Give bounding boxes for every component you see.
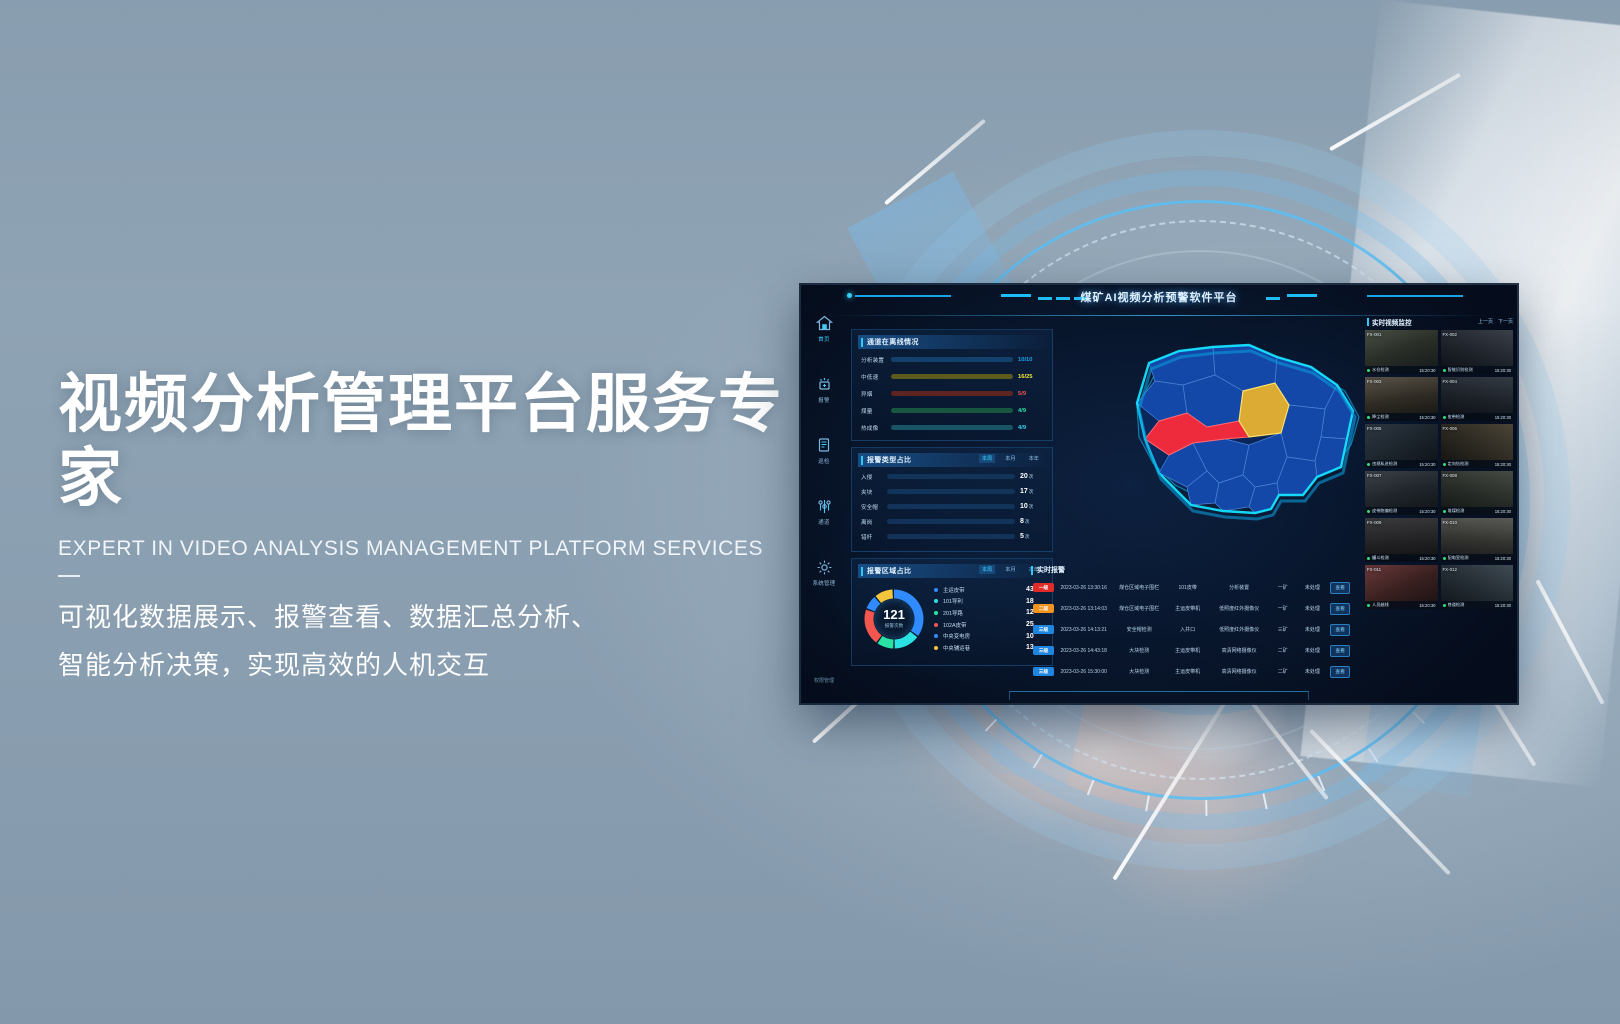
- online-dot: [1367, 416, 1370, 419]
- alarm-type-row: 安全帽10次: [861, 499, 1044, 514]
- donut-total: 121: [883, 608, 905, 621]
- video-time: 15:20:30: [1495, 556, 1511, 561]
- alarm-type: 大块检测: [1113, 647, 1164, 654]
- tab-本月[interactable]: 本月: [1002, 565, 1018, 574]
- video-monitor-panel: 实时视频监控 上一页 下一页 FX-001水仓检测15:20:30FX-002智…: [1365, 315, 1513, 699]
- alarm-mine: 一矿: [1268, 584, 1298, 591]
- video-statusbar: 配电室检测15:20:30: [1441, 554, 1514, 562]
- channel-value: 4/9: [1018, 425, 1044, 431]
- alarm-type-label: 夹块: [861, 488, 887, 496]
- alarm-state: 未处理: [1298, 647, 1328, 654]
- channel-progress-track: [891, 391, 1013, 396]
- inspection-icon: [816, 437, 833, 454]
- alarm-type-tabs[interactable]: 本周本月本年: [979, 454, 1042, 463]
- hero-description-line-1: 可视化数据展示、报警查看、数据汇总分析、: [58, 593, 818, 641]
- view-button[interactable]: 查看: [1330, 645, 1350, 657]
- online-dot: [1367, 604, 1370, 607]
- table-row[interactable]: 三级2023-03-26 15:30:00大块检测主运皮带机高清网络摄像仪二矿未…: [1023, 661, 1361, 682]
- sidebar-item-gear[interactable]: 系统管理: [801, 551, 847, 595]
- alarm-location: 入井口: [1165, 626, 1211, 633]
- dashboard-title: 煤矿AI视频分析预警软件平台: [801, 289, 1517, 305]
- alarm-type-value: 5次: [1020, 533, 1044, 540]
- video-tile[interactable]: FX-011人员越线15:20:30: [1365, 565, 1438, 609]
- video-tile[interactable]: FX-012巷道检测15:20:30: [1441, 565, 1514, 609]
- alarm-device: 高清网络摄像仪: [1210, 647, 1267, 654]
- channel-progress-track: [891, 408, 1013, 413]
- video-statusbar: 水仓检测15:20:30: [1365, 366, 1438, 374]
- channel-value: 5/9: [1018, 391, 1044, 397]
- alarm-icon: [816, 376, 833, 393]
- alarm-action-cell: 查看: [1327, 645, 1353, 657]
- video-time: 15:20:30: [1419, 462, 1435, 467]
- legend-label: 201导路: [943, 609, 1026, 617]
- video-id: FX-011: [1367, 567, 1381, 572]
- online-dot: [1367, 557, 1370, 560]
- tab-本周[interactable]: 本周: [979, 454, 995, 463]
- alarm-location: 101皮带: [1165, 584, 1211, 591]
- video-id: FX-001: [1367, 332, 1381, 337]
- alarm-time: 2023-03-26 15:30:00: [1054, 669, 1113, 675]
- accent-bar: [1367, 318, 1369, 326]
- alarm-mine: 二矿: [1268, 647, 1298, 654]
- channel-progress-track: [891, 374, 1013, 379]
- sidebar-nav[interactable]: 首页报警巡检通道系统管理: [801, 307, 847, 703]
- next-page-button[interactable]: 下一页: [1498, 318, 1513, 325]
- alarm-type-track: [887, 489, 1015, 494]
- video-tile[interactable]: FX-002智能识别检测15:20:30: [1441, 330, 1514, 374]
- video-tile[interactable]: FX-007皮带跑偏检测15:20:30: [1365, 471, 1438, 515]
- legend-dot: [934, 646, 938, 650]
- realtime-alarm-table: 实时报警 一级2023-03-26 13:30:16煤仓区域电子围栏101皮带分…: [1023, 561, 1361, 682]
- alarm-state: 未处理: [1298, 584, 1328, 591]
- status-badge: 二级: [1033, 604, 1054, 613]
- online-dot: [1443, 604, 1446, 607]
- video-tile[interactable]: FX-003降尘检测15:20:30: [1365, 377, 1438, 421]
- alarm-action-cell: 查看: [1327, 582, 1353, 594]
- alarm-state: 未处理: [1298, 605, 1328, 612]
- alarm-type-panel-title: 报警类型占比: [867, 455, 911, 465]
- alarm-type-value: 8次: [1020, 518, 1044, 525]
- alarm-row-list: 一级2023-03-26 13:30:16煤仓区域电子围栏101皮带分析装置一矿…: [1023, 577, 1361, 682]
- video-time: 15:20:30: [1495, 462, 1511, 467]
- alarm-area-donut: 121 报警次数: [862, 587, 926, 651]
- donut-center: 121 报警次数: [874, 599, 914, 639]
- status-badge: 三级: [1033, 646, 1054, 655]
- alarm-time: 2023-03-26 13:30:16: [1054, 585, 1113, 591]
- video-name: 人员越线: [1372, 602, 1419, 608]
- video-statusbar: 降尘检测15:20:30: [1365, 413, 1438, 421]
- footer-notch: [1009, 691, 1309, 700]
- video-tile[interactable]: FX-001水仓检测15:20:30: [1365, 330, 1438, 374]
- alarm-type-row: 离岗8次: [861, 514, 1044, 529]
- legend-dot: [934, 599, 938, 603]
- gear-icon: [816, 559, 833, 576]
- sidebar-footer-label: 权限管理: [801, 677, 847, 684]
- status-badge: 一级: [1033, 583, 1054, 592]
- channel-status-row: 异烟5/9: [861, 385, 1044, 402]
- alarm-type-value: 17次: [1020, 488, 1044, 495]
- legend-dot: [934, 611, 938, 615]
- video-time: 15:20:30: [1419, 509, 1435, 514]
- alarm-device: 高清网络摄像仪: [1210, 668, 1267, 675]
- video-time: 15:20:30: [1419, 368, 1435, 373]
- video-tile[interactable]: FX-006定向钻检测15:20:30: [1441, 424, 1514, 468]
- table-row[interactable]: 一级2023-03-26 13:30:16煤仓区域电子围栏101皮带分析装置一矿…: [1023, 577, 1361, 598]
- alarm-action-cell: 查看: [1327, 603, 1353, 615]
- table-row[interactable]: 三级2023-03-26 14:13:21安全帽检测入井口低照度红外摄像仪三矿未…: [1023, 619, 1361, 640]
- video-id: FX-003: [1367, 379, 1381, 384]
- accent-slash: [1112, 683, 1237, 880]
- video-statusbar: 罐斗检测15:20:30: [1365, 554, 1438, 562]
- legend-label: 中央变电房: [943, 632, 1026, 640]
- online-dot: [1443, 557, 1446, 560]
- accent-bar: [861, 567, 863, 576]
- channel-value: 4/9: [1018, 408, 1044, 414]
- channel-status-row: 热成像4/9: [861, 419, 1044, 436]
- alarm-type-unit: 次: [1029, 489, 1034, 494]
- online-dot: [1367, 463, 1370, 466]
- video-statusbar: 巷道检测15:20:30: [1441, 601, 1514, 609]
- video-name: 配电室检测: [1448, 555, 1495, 561]
- video-id: FX-007: [1367, 473, 1381, 478]
- donut-segment: [880, 639, 893, 643]
- alarm-type-unit: 次: [1029, 504, 1034, 509]
- video-statusbar: 皮带检测15:20:30: [1441, 413, 1514, 421]
- tab-本年[interactable]: 本年: [1026, 454, 1042, 463]
- alarm-state: 未处理: [1298, 626, 1328, 633]
- alarm-type-panel: 报警类型占比 本周本月本年 入侵20次夹块17次安全帽10次离岗8次错杆5次: [851, 447, 1053, 552]
- view-button[interactable]: 查看: [1330, 666, 1350, 678]
- legend-label: 中央辅运巷: [943, 644, 1026, 652]
- video-panel-title: 实时视频监控: [1372, 317, 1412, 327]
- video-grid: FX-001水仓检测15:20:30FX-002智能识别检测15:20:30FX…: [1365, 330, 1513, 609]
- video-time: 15:20:30: [1495, 603, 1511, 608]
- video-name: 智能识别检测: [1448, 367, 1495, 373]
- hero-subtitle: EXPERT IN VIDEO ANALYSIS MANAGEMENT PLAT…: [58, 537, 818, 561]
- alarm-type-row: 夹块17次: [861, 484, 1044, 499]
- alarm-type: 煤仓区域电子围栏: [1113, 605, 1164, 612]
- alarm-type-unit: 次: [1025, 534, 1030, 539]
- video-name: 定向钻检测: [1448, 461, 1495, 467]
- accent-slash: [1329, 73, 1461, 151]
- video-statusbar: 智能识别检测15:20:30: [1441, 366, 1514, 374]
- online-dot: [1367, 369, 1370, 372]
- view-button[interactable]: 查看: [1330, 624, 1350, 636]
- panel-header: 报警类型占比 本周本月本年: [858, 453, 1046, 467]
- alarm-type-value: 20次: [1020, 473, 1044, 480]
- channel-status-row: 煤量4/9: [861, 402, 1044, 419]
- status-badge: 三级: [1033, 667, 1054, 676]
- video-statusbar: 定向钻检测15:20:30: [1441, 460, 1514, 468]
- accent-slash: [884, 119, 986, 206]
- video-tile[interactable]: FX-004皮带检测15:20:30: [1441, 377, 1514, 421]
- sidebar-item-inspection[interactable]: 巡检: [801, 429, 847, 473]
- home-icon: [816, 315, 833, 332]
- alarm-action-cell: 查看: [1327, 666, 1353, 678]
- alarm-location: 主运皮带机: [1165, 647, 1211, 654]
- video-time: 15:20:30: [1419, 415, 1435, 420]
- alarm-type-label: 安全帽: [861, 503, 887, 511]
- realtime-alarm-title: 实时报警: [1037, 565, 1065, 575]
- video-time: 15:20:30: [1419, 603, 1435, 608]
- dashboard-screen: 煤矿AI视频分析预警软件平台 首页报警巡检通道系统管理 权限管理 通道在离线情况…: [801, 285, 1517, 703]
- legend-label: 主运皮带: [943, 586, 1026, 594]
- sidebar-item-channel[interactable]: 通道: [801, 490, 847, 534]
- video-id: FX-004: [1443, 379, 1457, 384]
- alarm-device: 低照度红外摄像仪: [1210, 605, 1267, 612]
- legend-dot: [934, 623, 938, 627]
- alarm-state: 未处理: [1298, 668, 1328, 675]
- video-id: FX-009: [1367, 520, 1381, 525]
- alarm-device: 分析装置: [1210, 584, 1267, 591]
- header-chip: [1266, 297, 1280, 300]
- page-title: 视频分析管理平台服务专家: [58, 368, 818, 515]
- video-statusbar: 皮带跑偏检测15:20:30: [1365, 507, 1438, 515]
- video-id: FX-002: [1443, 332, 1457, 337]
- sidebar-item-alarm[interactable]: 报警: [801, 368, 847, 412]
- view-button[interactable]: 查看: [1330, 582, 1350, 594]
- sidebar-item-label: 报警: [818, 396, 829, 404]
- video-id: FX-005: [1367, 426, 1381, 431]
- channel-status-row: 中低速16/25: [861, 368, 1044, 385]
- channel-panel-title: 通道在离线情况: [867, 337, 919, 347]
- video-id: FX-008: [1443, 473, 1457, 478]
- alarm-time: 2023-03-26 14:13:21: [1054, 627, 1113, 633]
- alarm-type: 煤仓区域电子围栏: [1113, 584, 1164, 591]
- prev-page-button[interactable]: 上一页: [1478, 318, 1493, 325]
- divider: [58, 575, 80, 577]
- channel-icon: [816, 498, 833, 515]
- alarm-mine: 二矿: [1268, 668, 1298, 675]
- donut-caption: 报警次数: [885, 623, 903, 629]
- province-map[interactable]: [1063, 333, 1393, 558]
- alarm-action-cell: 查看: [1327, 624, 1353, 636]
- alarm-area-panel-title: 报警区域占比: [867, 566, 911, 576]
- tab-本周[interactable]: 本周: [979, 565, 995, 574]
- video-pager[interactable]: 上一页 下一页: [1478, 318, 1513, 325]
- realtime-alarm-header: 实时报警: [1031, 565, 1355, 575]
- video-name: 罐斗检测: [1372, 555, 1419, 561]
- alarm-time: 2023-03-26 13:14:03: [1054, 606, 1113, 612]
- video-time: 15:20:30: [1495, 415, 1511, 420]
- video-name: 巷道检测: [1448, 602, 1495, 608]
- alarm-type-row: 错杆5次: [861, 529, 1044, 544]
- sidebar-item-label: 系统管理: [813, 579, 836, 587]
- channel-value: 10/10: [1018, 357, 1044, 363]
- alarm-type-label: 入侵: [861, 473, 887, 481]
- video-statusbar: 违规私进检测15:20:30: [1365, 460, 1438, 468]
- status-badge: 三级: [1033, 625, 1054, 634]
- legend-dot: [934, 634, 938, 638]
- video-name: 降尘检测: [1372, 414, 1419, 420]
- video-panel-header: 实时视频监控 上一页 下一页: [1365, 315, 1513, 328]
- table-row[interactable]: 三级2023-03-26 14:43:18大块检测主运皮带机高清网络摄像仪二矿未…: [1023, 640, 1361, 661]
- channel-status-panel: 通道在离线情况 分析装置10/10中低速16/25异烟5/9煤量4/9热成像4/…: [851, 329, 1053, 441]
- video-name: 违规私进检测: [1372, 461, 1419, 467]
- accent-bar: [861, 338, 863, 347]
- video-id: FX-006: [1443, 426, 1457, 431]
- video-time: 15:20:30: [1495, 368, 1511, 373]
- panel-header: 报警区域占比 本周本月本年: [858, 564, 1046, 578]
- channel-label: 煤量: [861, 407, 891, 415]
- legend-label: 102A皮带: [943, 621, 1026, 629]
- alarm-type-unit: 次: [1029, 474, 1034, 479]
- channel-label: 中低速: [861, 373, 891, 381]
- header-chip: [1287, 294, 1317, 297]
- video-tile[interactable]: FX-005违规私进检测15:20:30: [1365, 424, 1438, 468]
- alarm-type-track: [887, 504, 1015, 509]
- video-id: FX-010: [1443, 520, 1457, 525]
- accent-bar: [1031, 566, 1033, 575]
- alarm-type-track: [887, 534, 1015, 539]
- donut-chart-container: 121 报警次数 主运皮带43101导利18201导路12102A皮带25中央变…: [852, 580, 1052, 654]
- alarm-mine: 三矿: [1268, 626, 1298, 633]
- sidebar-item-label: 首页: [818, 335, 829, 343]
- online-dot: [1443, 510, 1446, 513]
- alarm-type: 大块检测: [1113, 668, 1164, 675]
- video-tile[interactable]: FX-008堆煤检测15:20:30: [1441, 471, 1514, 515]
- table-row[interactable]: 二级2023-03-26 13:14:03煤仓区域电子围栏主运皮带机低照度红外摄…: [1023, 598, 1361, 619]
- alarm-mine: 一矿: [1268, 605, 1298, 612]
- video-name: 水仓检测: [1372, 367, 1419, 373]
- sidebar-item-label: 通道: [818, 518, 829, 526]
- alarm-type-rows: 入侵20次夹块17次安全帽10次离岗8次错杆5次: [852, 469, 1052, 544]
- video-name: 皮带检测: [1448, 414, 1495, 420]
- legend-dot: [934, 588, 938, 592]
- video-tile[interactable]: FX-010配电室检测15:20:30: [1441, 518, 1514, 562]
- alarm-type-label: 离岗: [861, 518, 887, 526]
- alarm-location: 主运皮带机: [1165, 605, 1211, 612]
- channel-progress-track: [891, 425, 1013, 430]
- online-dot: [1443, 416, 1446, 419]
- legend-label: 101导利: [943, 597, 1026, 605]
- online-dot: [1367, 510, 1370, 513]
- hero-description-line-2: 智能分析决策，实现高效的人机交互: [58, 641, 818, 689]
- accent-slash: [1535, 579, 1604, 704]
- alarm-time: 2023-03-26 14:43:18: [1054, 648, 1113, 654]
- alarm-type-label: 错杆: [861, 533, 887, 541]
- dashboard-footer: [801, 689, 1517, 703]
- alarm-type-unit: 次: [1025, 519, 1030, 524]
- video-name: 皮带跑偏检测: [1372, 508, 1419, 514]
- channel-label: 热成像: [861, 424, 891, 432]
- online-dot: [1443, 369, 1446, 372]
- sidebar-item-label: 巡检: [818, 457, 829, 465]
- online-dot: [1443, 463, 1446, 466]
- video-statusbar: 人员越线15:20:30: [1365, 601, 1438, 609]
- header-line: [1367, 295, 1463, 297]
- channel-label: 异烟: [861, 390, 891, 398]
- alarm-type: 安全帽检测: [1113, 626, 1164, 633]
- channel-status-row: 分析装置10/10: [861, 351, 1044, 368]
- tab-本月[interactable]: 本月: [1002, 454, 1018, 463]
- video-id: FX-012: [1443, 567, 1457, 572]
- video-statusbar: 堆煤检测15:20:30: [1441, 507, 1514, 515]
- video-time: 15:20:30: [1419, 556, 1435, 561]
- hero-copy: 视频分析管理平台服务专家 EXPERT IN VIDEO ANALYSIS MA…: [58, 368, 818, 689]
- alarm-type-track: [887, 474, 1015, 479]
- alarm-device: 低照度红外摄像仪: [1210, 626, 1267, 633]
- alarm-type-value: 10次: [1020, 503, 1044, 510]
- accent-slash: [1309, 729, 1451, 876]
- sidebar-item-home[interactable]: 首页: [801, 307, 847, 351]
- video-name: 堆煤检测: [1448, 508, 1495, 514]
- alarm-type-row: 入侵20次: [861, 469, 1044, 484]
- video-tile[interactable]: FX-009罐斗检测15:20:30: [1365, 518, 1438, 562]
- video-time: 15:20:30: [1495, 509, 1511, 514]
- map-svg: [1063, 333, 1393, 558]
- channel-rows: 分析装置10/10中低速16/25异烟5/9煤量4/9热成像4/9: [852, 351, 1052, 436]
- channel-label: 分析装置: [861, 356, 891, 364]
- channel-value: 16/25: [1018, 374, 1044, 380]
- accent-bar: [861, 456, 863, 465]
- channel-progress-track: [891, 357, 1013, 362]
- alarm-type-track: [887, 519, 1015, 524]
- view-button[interactable]: 查看: [1330, 603, 1350, 615]
- panel-header: 通道在离线情况: [858, 335, 1046, 349]
- alarm-location: 主运皮带机: [1165, 668, 1211, 675]
